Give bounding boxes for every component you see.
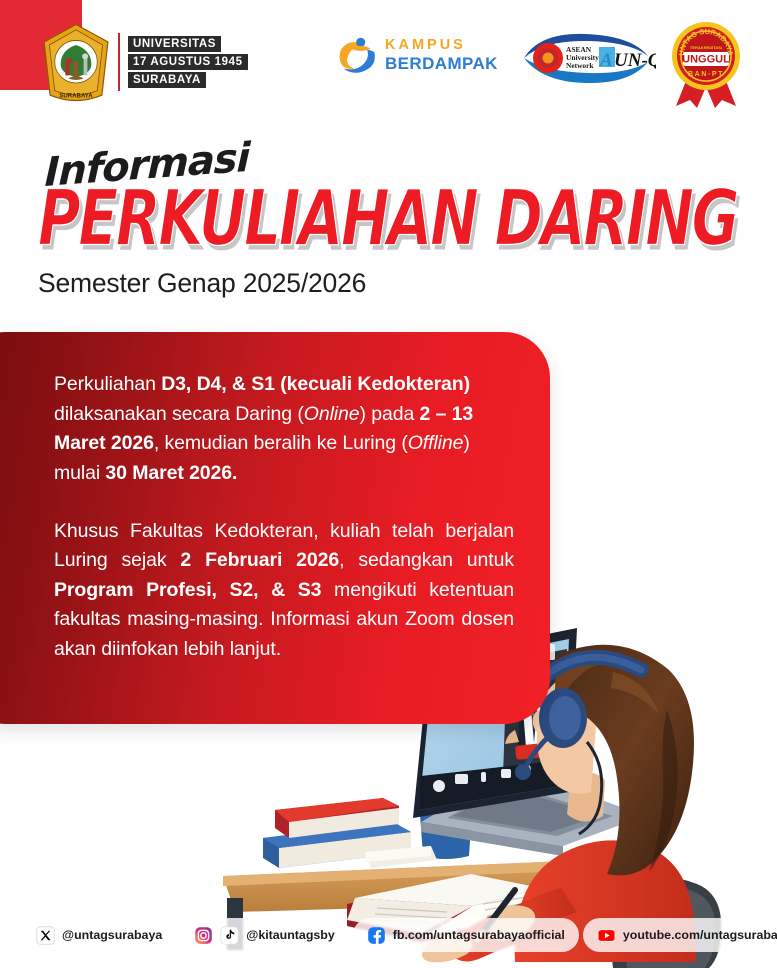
facebook-icon[interactable] (367, 926, 386, 945)
akreditasi-unggul-badge: UNTAG SURABAYA UNGGUL TERAKREDITASI BAN-… (664, 20, 748, 108)
social-media-bar: @untagsurabaya @kitauntagsby (22, 918, 757, 952)
poster-canvas: SURABAYA UNIVERSITAS 17 AGUSTUS 1945 SUR… (0, 0, 777, 968)
p1-seg4: , kemudian beralih ke Luring ( (154, 432, 408, 454)
aun-qa-logo: ASEAN University Network A UN-QA (516, 32, 656, 84)
info-card: Perkuliahan D3, D4, & S1 (kecuali Kedokt… (0, 332, 550, 724)
kampus-line-1: KAMPUS (385, 38, 498, 53)
p1-seg2: dilaksanakan secara Daring ( (54, 403, 304, 425)
unggul-label: UNGGUL (682, 54, 730, 66)
social-handle-instagram-tiktok: @kitauntagsby (246, 928, 335, 942)
p2-seg2: , sedangkan untuk (339, 549, 514, 571)
svg-text:SURABAYA: SURABAYA (59, 92, 93, 99)
header-divider (118, 33, 120, 91)
tiktok-icon[interactable] (220, 926, 239, 945)
p1-bold-programs: D3, D4, & S1 (kecuali Kedokteran) (161, 373, 470, 395)
poster-title-block: Informasi PERKULIAHAN DARING Semester Ge… (38, 150, 718, 299)
poster-header: SURABAYA UNIVERSITAS 17 AGUSTUS 1945 SUR… (0, 0, 777, 118)
p1-italic-online: Online (304, 403, 360, 425)
kampus-berdampak-icon (338, 34, 378, 76)
p1-italic-offline: Offline (408, 432, 464, 454)
kampus-berdampak-logo: KAMPUS BERDAMPAK (338, 34, 498, 76)
aun-line-3: Network (566, 61, 594, 70)
social-item-instagram-tiktok[interactable]: @kitauntagsby (180, 918, 349, 952)
youtube-icon[interactable] (597, 926, 616, 945)
social-handle-facebook: fb.com/untagsurabayaofficial (393, 928, 565, 942)
p1-seg3: ) pada (360, 403, 420, 425)
kampus-line-2: BERDAMPAK (385, 55, 498, 72)
p2-bold-programs: Program Profesi, S2, & S3 (54, 579, 321, 601)
svg-text:BAN-PT: BAN-PT (688, 71, 724, 78)
svg-text:UN-QA: UN-QA (614, 50, 656, 71)
p2-bold-kedokteran-date: 2 Februari 2026 (180, 549, 339, 571)
info-paragraph-1: Perkuliahan D3, D4, & S1 (kecuali Kedokt… (54, 370, 514, 489)
p1-bold-luring-date: 30 Maret 2026. (105, 462, 237, 484)
university-name-line-2: 17 AGUSTUS 1945 (128, 54, 248, 70)
university-name-line-1: UNIVERSITAS (128, 36, 221, 52)
social-item-x[interactable]: @untagsurabaya (22, 918, 176, 952)
social-handle-youtube: youtube.com/untagsurabaya (623, 928, 777, 942)
instagram-icon[interactable] (194, 926, 213, 945)
social-item-facebook[interactable]: fb.com/untagsurabayaofficial (353, 918, 579, 952)
university-name-line-3: SURABAYA (128, 72, 206, 88)
social-handle-x: @untagsurabaya (62, 928, 162, 942)
info-paragraph-2: Khusus Fakultas Kedokteran, kuliah telah… (54, 517, 514, 665)
untag-seal-logo: SURABAYA (38, 22, 114, 106)
svg-text:TERAKREDITASI: TERAKREDITASI (690, 45, 722, 50)
social-item-youtube[interactable]: youtube.com/untagsurabaya (583, 918, 777, 952)
info-card-body: Perkuliahan D3, D4, & S1 (kecuali Kedokt… (54, 370, 514, 665)
x-twitter-icon[interactable] (36, 926, 55, 945)
page-title: PERKULIAHAN DARING (38, 184, 732, 256)
university-name-block: UNIVERSITAS 17 AGUSTUS 1945 SURABAYA (128, 36, 248, 88)
title-subtitle: Semester Genap 2025/2026 (38, 268, 718, 299)
p1-seg1: Perkuliahan (54, 373, 161, 395)
